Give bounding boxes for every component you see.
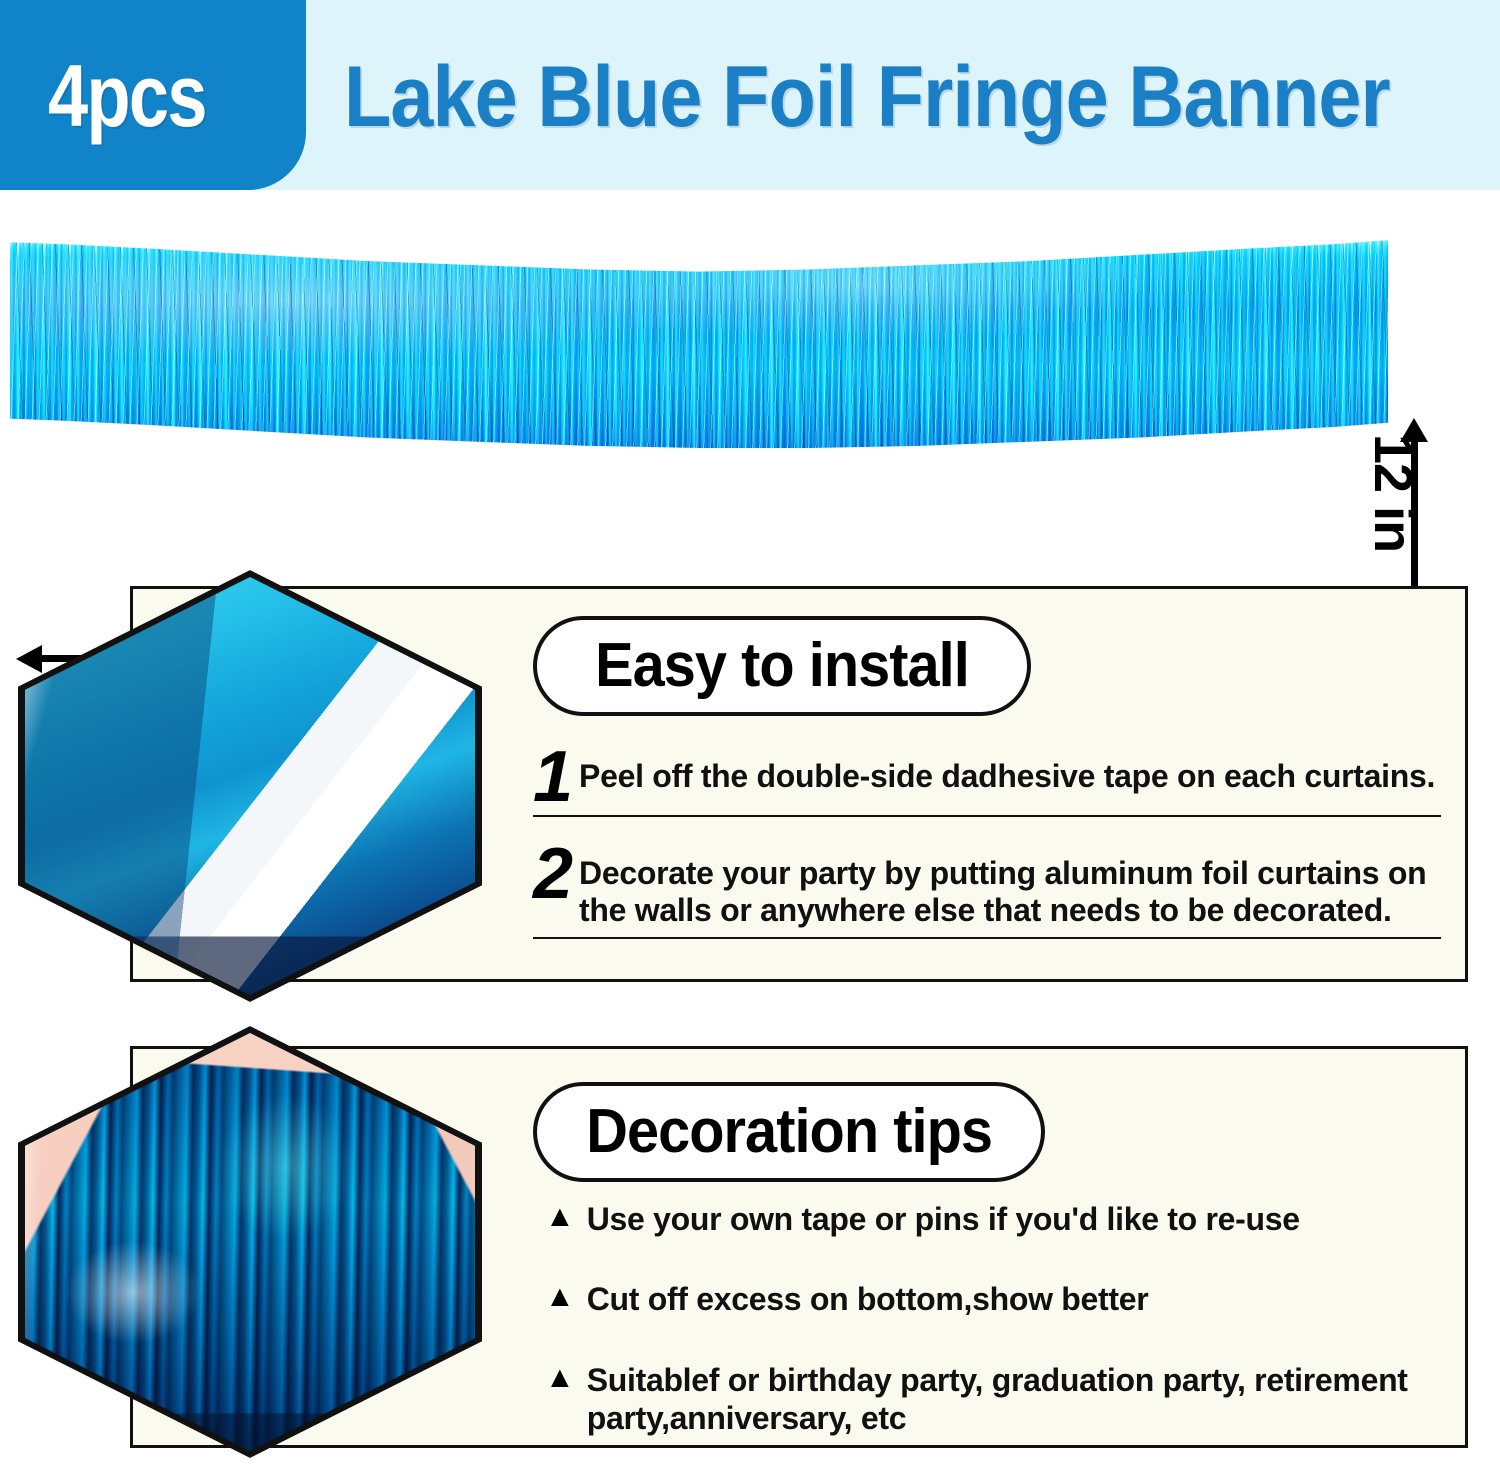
fringe-banner-photo xyxy=(10,238,1388,448)
step-text: Peel off the double-side dadhesive tape … xyxy=(579,748,1435,795)
triangle-bullet-icon: ▲ xyxy=(545,1361,575,1394)
quantity-badge: 4pcs xyxy=(0,0,306,190)
triangle-bullet-icon: ▲ xyxy=(545,1200,575,1233)
tip-item: ▲ Suitablef or birthday party, graduatio… xyxy=(545,1361,1445,1438)
tips-heading-label: Decoration tips xyxy=(586,1101,992,1163)
triangle-bullet-icon: ▲ xyxy=(545,1280,575,1313)
tip-text: Cut off excess on bottom,show better xyxy=(587,1280,1149,1318)
step-text: Decorate your party by putting aluminum … xyxy=(579,845,1441,929)
tips-heading-pill: Decoration tips xyxy=(533,1082,1045,1182)
install-step: 1 Peel off the double-side dadhesive tap… xyxy=(533,748,1441,817)
product-dimension-area: 12 in 10 ft xyxy=(0,190,1500,565)
step-number: 1 xyxy=(533,748,573,807)
install-steps-list: 1 Peel off the double-side dadhesive tap… xyxy=(533,748,1441,967)
install-heading-pill: Easy to install xyxy=(533,616,1031,716)
tip-item: ▲ Cut off excess on bottom,show better xyxy=(545,1280,1445,1318)
step-number: 2 xyxy=(533,845,573,904)
quantity-badge-label: 4pcs xyxy=(48,52,206,140)
tip-text: Use your own tape or pins if you'd like … xyxy=(587,1200,1300,1238)
install-step: 2 Decorate your party by putting aluminu… xyxy=(533,845,1441,939)
page-title: Lake Blue Foil Fringe Banner xyxy=(344,54,1390,140)
tips-list: ▲ Use your own tape or pins if you'd lik… xyxy=(545,1200,1445,1480)
install-heading-label: Easy to install xyxy=(595,635,969,697)
header-band: 4pcs Lake Blue Foil Fringe Banner xyxy=(0,0,1500,190)
tip-item: ▲ Use your own tape or pins if you'd lik… xyxy=(545,1200,1445,1238)
fringe-foil-texture xyxy=(10,238,1388,448)
tip-text: Suitablef or birthday party, graduation … xyxy=(587,1361,1445,1438)
